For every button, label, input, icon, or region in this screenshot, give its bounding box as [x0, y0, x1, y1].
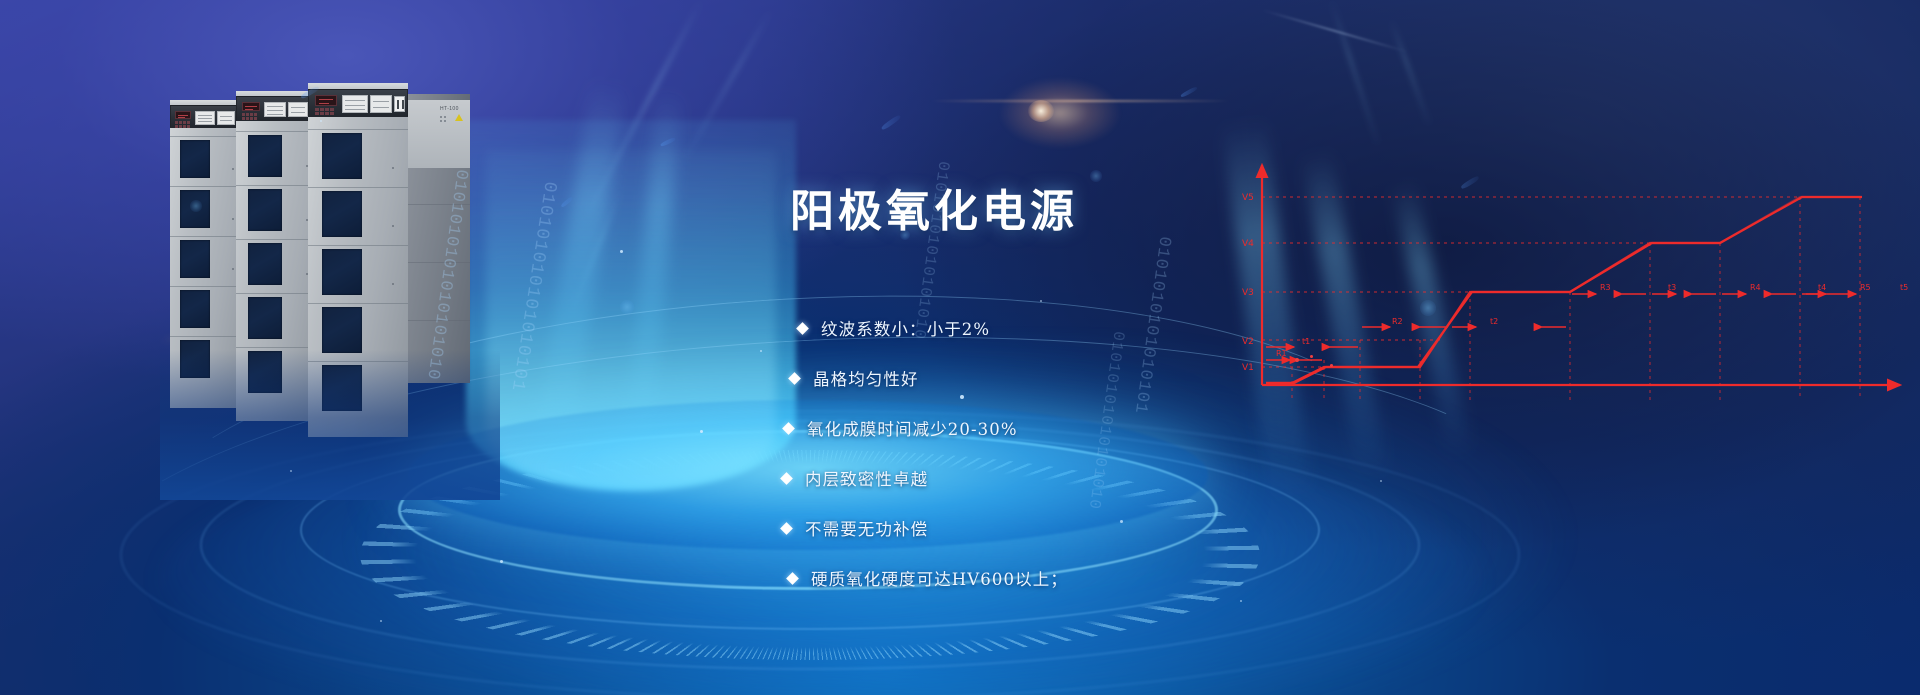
chart-droplines — [1292, 197, 1860, 400]
cabinet-badge: HT-100 — [440, 106, 459, 112]
seg-t3: t3 — [1668, 283, 1676, 292]
sparkle — [500, 560, 503, 563]
seg-r4: R4 — [1750, 283, 1761, 292]
lens-flare-core — [1028, 100, 1054, 122]
chart-gridlines — [1262, 197, 1860, 367]
list-item: 硬质氧化硬度可达HV600以上； — [788, 553, 1350, 603]
seg-t5: t5 — [1900, 283, 1908, 292]
list-item: 晶格均匀性好 — [790, 353, 1350, 403]
chart-dimension-arrows — [1266, 294, 1858, 360]
sparkle — [290, 470, 292, 472]
bokeh-particle — [620, 300, 634, 314]
lens-flare-streak — [930, 100, 1230, 102]
bokeh-particle — [1420, 300, 1436, 316]
diamond-bullet-icon — [788, 372, 801, 385]
sparkle — [1380, 480, 1382, 482]
banner-root: HT-100 0101010101010101010 0101010101010… — [0, 0, 1920, 695]
diamond-bullet-icon — [796, 322, 809, 335]
bokeh-particle — [190, 200, 202, 212]
text-content-block: 阳极氧化电源 纹波系数小：小于2% 晶格均匀性好 氧化成膜时间减少20-30% … — [790, 175, 1350, 603]
seg-r2: R2 — [1392, 317, 1403, 326]
seg-r3: R3 — [1600, 283, 1611, 292]
list-item-label: 内层致密性卓越 — [805, 466, 928, 490]
diamond-bullet-icon — [780, 522, 793, 535]
warning-triangle-icon — [455, 114, 463, 121]
sparkle — [320, 120, 322, 122]
page-title: 阳极氧化电源 — [790, 175, 1350, 239]
list-item-label: 晶格均匀性好 — [813, 366, 919, 390]
lens-flare — [1000, 78, 1120, 148]
seg-t2: t2 — [1490, 317, 1498, 326]
sparkle — [380, 620, 382, 622]
list-item-label: 不需要无功补偿 — [805, 516, 928, 540]
list-item: 不需要无功补偿 — [782, 503, 1350, 553]
chart-series-line — [1266, 197, 1860, 383]
list-item-label: 硬质氧化硬度可达HV600以上； — [811, 566, 1068, 590]
list-item: 纹波系数小：小于2% — [798, 303, 1350, 353]
sparkle — [700, 430, 703, 433]
diamond-bullet-icon — [780, 472, 793, 485]
diamond-bullet-icon — [782, 422, 795, 435]
sparkle — [620, 250, 623, 253]
list-item: 内层致密性卓越 — [782, 453, 1350, 503]
diamond-bullet-icon — [786, 572, 799, 585]
chart-series-ramp — [1266, 197, 1862, 383]
sparkle — [760, 350, 762, 352]
seg-t4: t4 — [1818, 283, 1826, 292]
list-item: 氧化成膜时间减少20-30% — [784, 403, 1350, 453]
seg-r5: R5 — [1860, 283, 1871, 292]
feature-list: 纹波系数小：小于2% 晶格均匀性好 氧化成膜时间减少20-30% 内层致密性卓越… — [790, 303, 1350, 603]
list-item-label: 氧化成膜时间减少20-30% — [807, 416, 1018, 440]
list-item-label: 纹波系数小：小于2% — [821, 316, 990, 340]
